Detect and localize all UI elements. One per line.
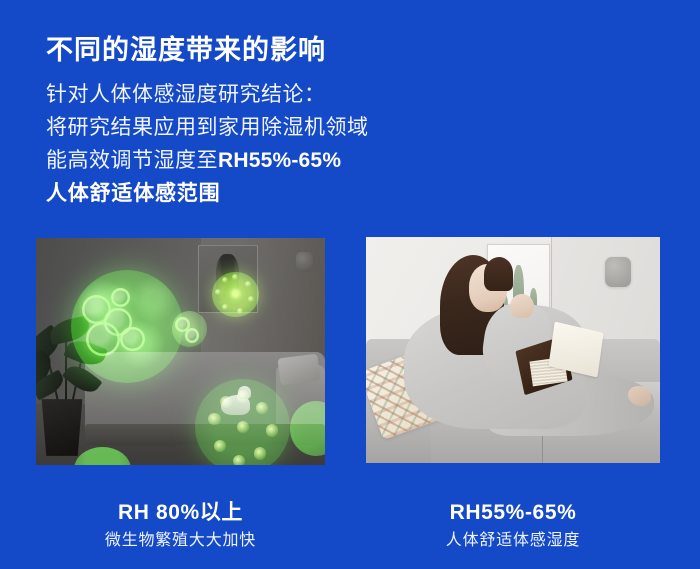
body-line-2: 将研究结果应用到家用除湿机领域 bbox=[46, 111, 369, 144]
woman-hand bbox=[510, 294, 534, 319]
humidity-infographic-poster: 不同的湿度带来的影响 针对人体体感湿度研究结论： 将研究结果应用到家用除湿机领域… bbox=[0, 0, 700, 569]
body-line-3: 能高效调节湿度至RH55%-65% bbox=[46, 144, 369, 177]
virus-sphere-small-icon bbox=[212, 272, 258, 317]
plant-pot bbox=[39, 399, 85, 456]
caption-left-subtitle: 微生物繁殖大大加快 bbox=[36, 530, 325, 552]
page-title: 不同的湿度带来的影响 bbox=[46, 35, 326, 66]
caption-comfort-humidity: RH55%-65% 人体舒适体感湿度 bbox=[366, 500, 660, 553]
bacteria-sphere-large-icon bbox=[71, 270, 184, 384]
bacteria-cluster-edge-icon bbox=[172, 311, 207, 347]
body-text-block: 针对人体体感湿度研究结论： 将研究结果应用到家用除湿机领域 能高效调节湿度至RH… bbox=[46, 78, 369, 210]
caption-right-subtitle: 人体舒适体感湿度 bbox=[366, 530, 660, 552]
photo-comfort-humidity bbox=[366, 237, 660, 463]
caption-right-title: RH55%-65% bbox=[366, 500, 660, 526]
body-line-1: 针对人体体感湿度研究结论： bbox=[46, 78, 369, 111]
woman-hair-front bbox=[484, 257, 513, 291]
wall-speaker-icon bbox=[296, 252, 313, 272]
caption-left-title: RH 80%以上 bbox=[36, 500, 325, 526]
body-line-4: 人体舒适体感范围 bbox=[46, 177, 369, 210]
wall-speaker-icon bbox=[605, 257, 631, 287]
sofa-cushion bbox=[277, 354, 320, 386]
photo-high-humidity bbox=[36, 238, 325, 465]
photo-comfort-humidity-scene bbox=[366, 237, 660, 463]
humidity-range-highlight: RH55%-65% bbox=[218, 149, 341, 172]
photo-high-humidity-scene bbox=[36, 238, 325, 465]
caption-high-humidity: RH 80%以上 微生物繁殖大大加快 bbox=[36, 500, 325, 553]
body-line-3-text: 能高效调节湿度至 bbox=[46, 149, 218, 172]
